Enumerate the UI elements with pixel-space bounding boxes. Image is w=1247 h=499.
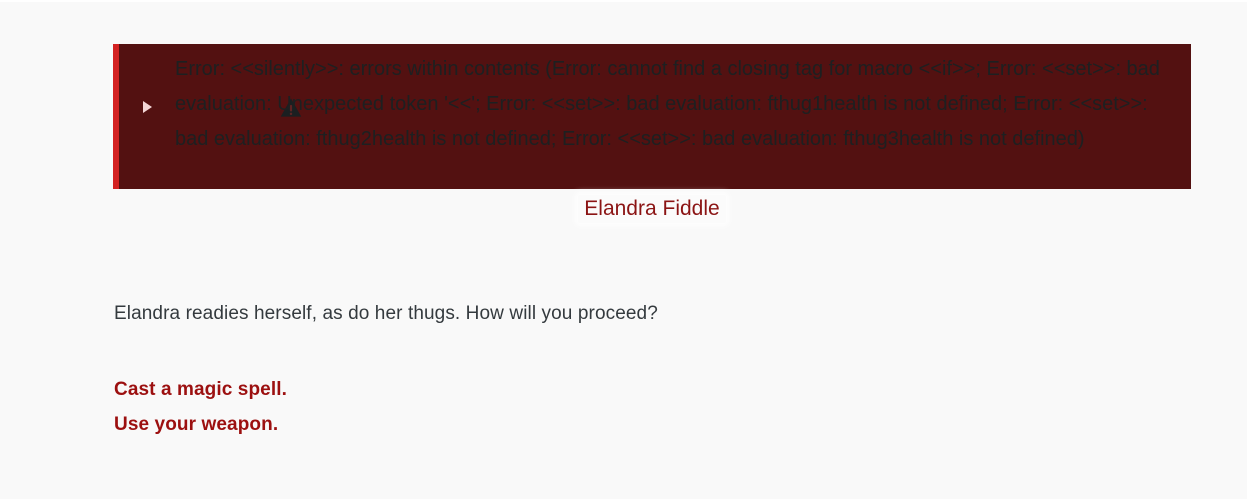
speaker-name: Elandra Fiddle bbox=[578, 195, 725, 223]
error-message-text: Error: <<silently>>: errors within conte… bbox=[119, 52, 1191, 157]
speaker-name-container: Elandra Fiddle bbox=[113, 195, 1191, 223]
choice-link-cast-spell[interactable]: Cast a magic spell. bbox=[114, 372, 287, 407]
error-message-wrapper: Error: <<silently>>: errors within conte… bbox=[119, 52, 1191, 157]
page-background: Error: <<silently>>: errors within conte… bbox=[0, 2, 1247, 499]
choice-list: Cast a magic spell. Use your weapon. bbox=[114, 372, 287, 442]
error-banner[interactable]: Error: <<silently>>: errors within conte… bbox=[113, 44, 1191, 189]
choice-link-use-weapon[interactable]: Use your weapon. bbox=[114, 407, 287, 442]
passage-text: Elandra readies herself, as do her thugs… bbox=[114, 301, 658, 327]
